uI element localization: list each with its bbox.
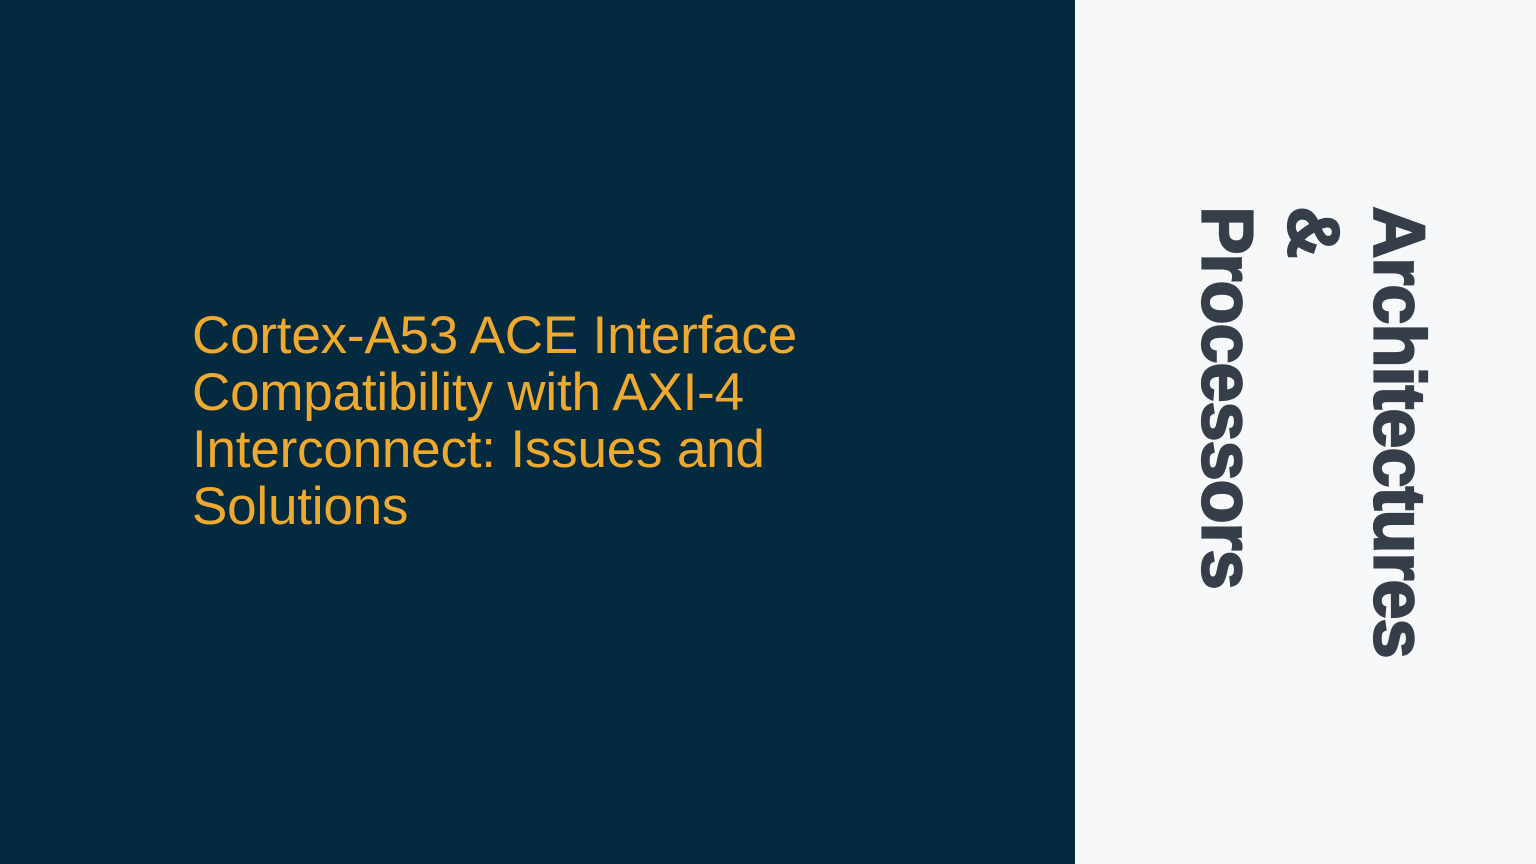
category-panel: Architectures & Processors xyxy=(1075,0,1536,864)
title-block: Cortex-A53 ACE Interface Compatibility w… xyxy=(0,307,1075,535)
title-panel: Cortex-A53 ACE Interface Compatibility w… xyxy=(0,0,1075,864)
vertical-label-wrapper: Architectures & Processors xyxy=(1075,0,1536,864)
category-label: Architectures & Processors xyxy=(1184,206,1442,657)
slide-title: Cortex-A53 ACE Interface Compatibility w… xyxy=(192,307,912,535)
slide-canvas: Cortex-A53 ACE Interface Compatibility w… xyxy=(0,0,1536,864)
